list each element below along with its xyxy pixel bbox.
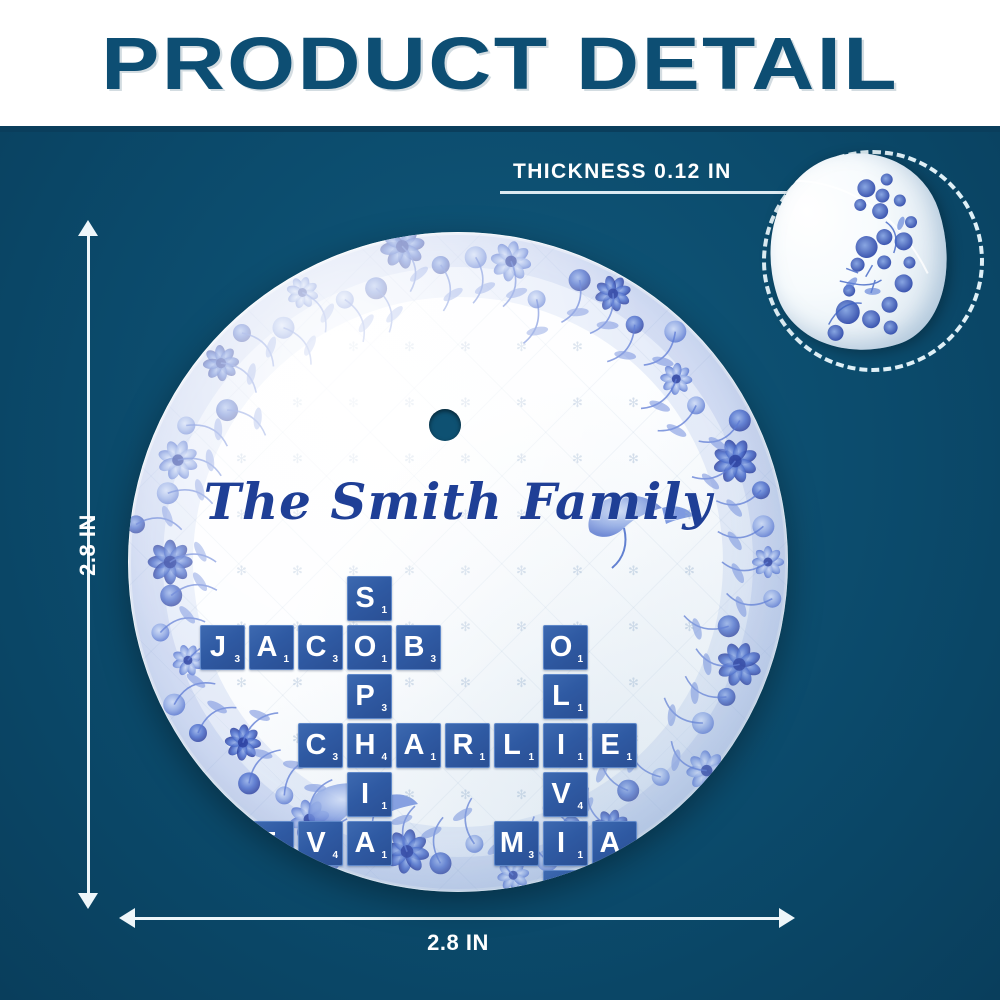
- tile-letter: R: [446, 730, 480, 759]
- tile-letter: B: [397, 632, 431, 661]
- letter-tile: I1: [543, 821, 588, 866]
- tile-letter: J: [201, 632, 235, 661]
- height-dimension-label: 2.8 IN: [75, 485, 101, 605]
- tile-point-value: 1: [381, 851, 387, 861]
- tile-letter: L: [495, 730, 529, 759]
- letter-tile: H4: [347, 723, 392, 768]
- detail-panel: 2.8 IN 2.8 IN THICKNESS 0.12 IN: [0, 132, 1000, 1000]
- tile-letter: P: [348, 681, 382, 710]
- thickness-callout-label: THICKNESS 0.12 IN: [513, 160, 732, 184]
- tile-letter: A: [544, 877, 578, 892]
- tile-point-value: 3: [234, 655, 240, 665]
- tile-point-value: 3: [528, 851, 534, 861]
- letter-tile: A1: [347, 821, 392, 866]
- tile-point-value: 1: [283, 851, 289, 861]
- tile-point-value: 4: [577, 802, 583, 812]
- tile-point-value: 3: [381, 704, 387, 714]
- tile-letter: E: [593, 730, 627, 759]
- arrow-left-icon: [119, 908, 135, 928]
- arrow-up-icon: [78, 220, 98, 236]
- tile-point-value: 4: [332, 851, 338, 861]
- letter-tile: J3: [200, 625, 245, 670]
- tile-letter: C: [299, 632, 333, 661]
- letter-tile: I1: [347, 772, 392, 817]
- name-crossword-grid: S1J3A1C3O1B3O1P3L1C3H4A1R1L1I1E1I1V4E1V4…: [128, 232, 788, 892]
- tile-point-value: 3: [332, 655, 338, 665]
- letter-tile: R1: [445, 723, 490, 768]
- tile-letter: I: [348, 779, 382, 808]
- tile-point-value: 1: [283, 655, 289, 665]
- letter-tile: I1: [543, 723, 588, 768]
- tile-letter: A: [593, 828, 627, 857]
- letter-tile: O1: [543, 625, 588, 670]
- tile-point-value: 3: [430, 655, 436, 665]
- width-dimension-label: 2.8 IN: [133, 930, 783, 956]
- tile-letter: V: [544, 779, 578, 808]
- letter-tile: C3: [298, 723, 343, 768]
- tile-point-value: 1: [381, 802, 387, 812]
- arrow-down-icon: [78, 893, 98, 909]
- letter-tile: B3: [396, 625, 441, 670]
- letter-tile: M3: [494, 821, 539, 866]
- letter-tile: E1: [249, 821, 294, 866]
- letter-tile: P3: [347, 674, 392, 719]
- arrow-right-icon: [779, 908, 795, 928]
- letter-tile: V4: [298, 821, 343, 866]
- tile-letter: O: [348, 632, 382, 661]
- tile-letter: V: [299, 828, 333, 857]
- tile-letter: A: [348, 828, 382, 857]
- tile-point-value: 1: [430, 753, 436, 763]
- product-detail-graphic: PRODUCT DETAIL 2.8 IN 2.8 IN THICKNESS 0…: [0, 0, 1000, 1000]
- tile-point-value: 1: [479, 753, 485, 763]
- tile-point-value: 4: [381, 753, 387, 763]
- width-dimension-line: [133, 917, 783, 920]
- letter-tile: A1: [592, 821, 637, 866]
- letter-tile: S1: [347, 576, 392, 621]
- ornament-disc: ✻✻✻✻✻✻✻✻✻✻✻✻✻✻✻✻✻✻✻✻✻✻✻✻✻✻✻✻✻✻✻✻✻✻✻✻✻✻✻✻…: [128, 232, 788, 892]
- letter-tile: C3: [298, 625, 343, 670]
- tile-letter: A: [250, 632, 284, 661]
- letter-tile: L1: [543, 674, 588, 719]
- tile-point-value: 1: [577, 753, 583, 763]
- header-band: PRODUCT DETAIL: [0, 0, 1000, 126]
- tile-letter: I: [544, 828, 578, 857]
- letter-tile: A1: [249, 625, 294, 670]
- tile-letter: O: [544, 632, 578, 661]
- tile-point-value: 1: [577, 655, 583, 665]
- tile-point-value: 1: [381, 655, 387, 665]
- tile-letter: A: [397, 730, 431, 759]
- tile-letter: C: [299, 730, 333, 759]
- tile-point-value: 1: [381, 606, 387, 616]
- letter-tile: E1: [592, 723, 637, 768]
- tile-letter: E: [250, 828, 284, 857]
- tile-letter: H: [348, 730, 382, 759]
- letter-tile: A1: [543, 870, 588, 892]
- tile-point-value: 1: [528, 753, 534, 763]
- tile-point-value: 3: [332, 753, 338, 763]
- tile-point-value: 1: [626, 851, 632, 861]
- tile-point-value: 1: [577, 704, 583, 714]
- tile-point-value: 1: [626, 753, 632, 763]
- tile-letter: I: [544, 730, 578, 759]
- letter-tile: A1: [396, 723, 441, 768]
- tile-letter: L: [544, 681, 578, 710]
- tile-letter: M: [495, 828, 529, 857]
- letter-tile: L1: [494, 723, 539, 768]
- tile-letter: S: [348, 583, 382, 612]
- letter-tile: V4: [543, 772, 588, 817]
- page-title: PRODUCT DETAIL: [101, 21, 899, 106]
- tile-point-value: 1: [577, 851, 583, 861]
- letter-tile: O1: [347, 625, 392, 670]
